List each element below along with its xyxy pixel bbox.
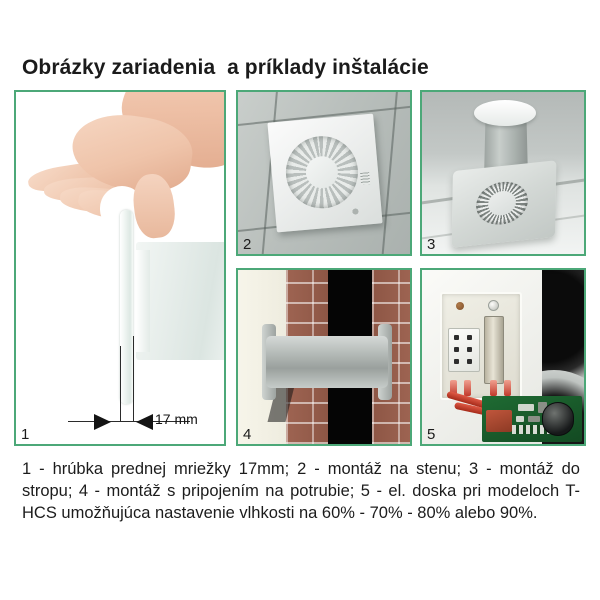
wall-section-illustration: [238, 270, 410, 444]
fan-grille-icon: [476, 179, 528, 227]
wire-pin: [504, 380, 511, 396]
wall-fan-faceplate: [267, 114, 382, 233]
brand-logo: [349, 204, 370, 218]
terminal-contact: [467, 359, 472, 364]
dimension-extension-line: [133, 336, 134, 422]
duct-collar: [474, 100, 536, 126]
figure-grid: 17 mm 1 2 3: [0, 88, 600, 450]
figure-panel-3: 3: [420, 90, 586, 256]
figure-number-3: 3: [427, 236, 435, 253]
dimension-arrow-right-icon: [136, 414, 153, 430]
wire-pin: [490, 380, 497, 396]
board-rivet: [456, 302, 464, 310]
fan-grille-icon: [283, 133, 361, 211]
figure-number-5: 5: [427, 426, 435, 443]
front-panel-edge: [120, 210, 133, 404]
fan-profile-illustration: 17 mm: [16, 92, 224, 444]
figure-panel-2: 2: [236, 90, 412, 256]
terminal-contact: [454, 335, 459, 340]
figure-number-4: 4: [243, 426, 251, 443]
terminal-contact: [467, 347, 472, 352]
ceiling-fan-faceplate: [452, 160, 557, 247]
pcb-component: [518, 404, 534, 411]
figure-caption: 1 - hrúbka prednej mriežky 17mm; 2 - mon…: [22, 458, 580, 524]
ceiling-illustration: [422, 92, 584, 254]
pcb-relay: [486, 410, 512, 432]
figure-number-2: 2: [243, 236, 251, 253]
electrolytic-capacitor: [542, 402, 574, 436]
pcb-component: [528, 416, 540, 422]
terminal-contact: [454, 347, 459, 352]
figure-number-1: 1: [21, 426, 29, 443]
figure-panel-4: 4: [236, 268, 412, 446]
terminal-block: [448, 328, 480, 372]
wire-pin: [464, 380, 471, 396]
pcb-component: [516, 416, 524, 422]
tiled-wall-illustration: [238, 92, 410, 254]
vent-slot: [360, 172, 370, 185]
board-screw: [488, 300, 499, 311]
page-title: Obrázky zariadenia a príklady inštalácie: [22, 56, 582, 80]
fan-body-side: [136, 242, 226, 360]
terminal-contact: [467, 335, 472, 340]
humidity-control-pcb: [482, 396, 582, 442]
figure-panel-5: 5: [420, 268, 586, 446]
terminal-contact: [454, 359, 459, 364]
dimension-arrow-left-icon: [94, 414, 111, 430]
tile-grout-line: [378, 90, 399, 256]
connecting-duct: [266, 336, 388, 388]
dimension-label: 17 mm: [155, 411, 198, 427]
electronics-illustration: [422, 270, 584, 444]
control-board-bay: [440, 292, 522, 400]
figure-panel-1: 17 mm 1: [14, 90, 226, 446]
dimension-extension-line: [120, 346, 121, 422]
board-connector: [484, 316, 504, 384]
